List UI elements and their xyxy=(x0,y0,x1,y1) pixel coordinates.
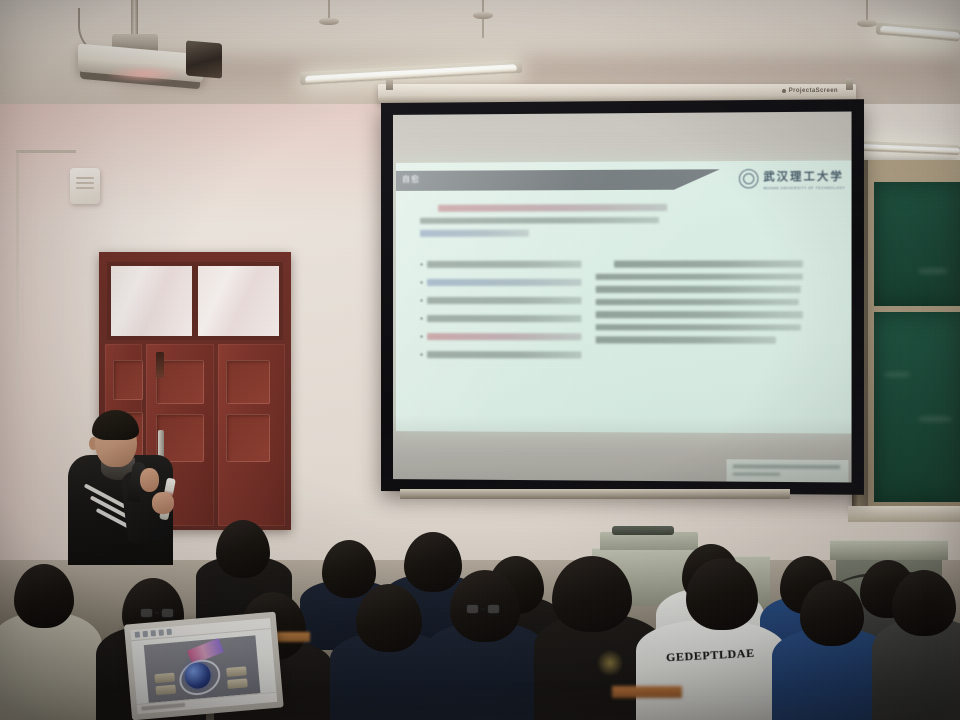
screen-bracket xyxy=(846,78,853,90)
chalk-tray xyxy=(848,506,960,522)
door-transom xyxy=(107,262,283,340)
toolbar-icon[interactable] xyxy=(135,631,141,637)
transom-glass-pane xyxy=(111,266,192,336)
list-item xyxy=(420,261,581,274)
bullet-icon xyxy=(420,281,423,284)
university-name-cn: 武汉理工大学 xyxy=(763,171,844,184)
screen-bracket xyxy=(386,78,393,90)
toolbar-icon[interactable] xyxy=(151,630,157,636)
door-lock[interactable] xyxy=(156,352,164,378)
light-ceiling-cap xyxy=(319,18,339,25)
light-hanger-rod xyxy=(482,0,484,38)
toolbar-icon[interactable] xyxy=(143,631,149,637)
university-seal-icon xyxy=(739,169,759,188)
screen-upper-haze xyxy=(393,112,852,165)
slide-header-band xyxy=(396,169,720,191)
slide-right-paragraph xyxy=(596,260,807,349)
projector-lens xyxy=(186,40,222,78)
chair-back xyxy=(612,686,682,698)
university-name-en: WUHAN UNIVERSITY OF TECHNOLOGY xyxy=(763,186,845,190)
bullet-icon xyxy=(420,353,423,356)
screen-brand-label: ProjectaScreen xyxy=(782,88,838,94)
eyeglasses xyxy=(140,608,174,618)
model-viewport[interactable] xyxy=(144,635,261,703)
wall-conduit-horizontal xyxy=(16,150,76,153)
list-item xyxy=(420,351,581,364)
brand-dot-icon xyxy=(782,89,786,93)
chalkboard-panel-top xyxy=(874,182,960,306)
bullet-icon xyxy=(420,263,423,266)
bullet-icon xyxy=(420,335,423,338)
side-counter-top xyxy=(830,540,948,560)
slide-bullet-list xyxy=(420,261,581,370)
laptop-screen[interactable] xyxy=(130,618,277,714)
toolbar-icon[interactable] xyxy=(158,629,164,635)
university-logo: 武汉理工大学 WUHAN UNIVERSITY OF TECHNOLOGY xyxy=(739,167,846,191)
slide-header-title: 自愈 xyxy=(402,174,420,185)
toolbar-icon[interactable] xyxy=(166,629,172,635)
list-item xyxy=(420,333,581,346)
wall-speaker-box xyxy=(70,168,100,204)
slide-intro-paragraph xyxy=(420,204,673,243)
presenter-hand-right xyxy=(152,492,174,514)
projector-lamp-glow xyxy=(105,66,183,82)
document-camera-arm xyxy=(612,526,674,535)
wall-conduit-vertical xyxy=(16,150,19,390)
door-leaf-right[interactable] xyxy=(218,344,285,526)
bullet-icon xyxy=(420,317,423,320)
list-item xyxy=(420,297,581,310)
chalkboard-panel-bottom xyxy=(874,312,960,502)
light-ceiling-cap xyxy=(473,12,493,19)
light-ceiling-cap xyxy=(857,20,877,27)
transom-glass-pane xyxy=(198,266,279,336)
screen-lower-haze xyxy=(393,415,852,482)
eyeglasses xyxy=(466,604,500,614)
bullet-icon xyxy=(420,299,423,302)
list-item xyxy=(420,315,581,328)
projector-mount-pole xyxy=(131,0,138,36)
presenter-hand-left xyxy=(140,468,159,492)
list-item xyxy=(420,279,581,292)
wall-warm-light-cast xyxy=(0,104,400,224)
classroom-photo-scene: ProjectaScreen 自愈 武汉理工大学 WUHAN UNIVERSIT… xyxy=(0,0,960,720)
presentation-slide: 自愈 武汉理工大学 WUHAN UNIVERSITY OF TECHNOLOGY xyxy=(396,160,852,433)
student-laptop[interactable] xyxy=(124,612,284,720)
screen-bottom-bar xyxy=(400,489,790,499)
screen-brand-text: ProjectaScreen xyxy=(789,88,838,94)
screen-surface: 自愈 武汉理工大学 WUHAN UNIVERSITY OF TECHNOLOGY xyxy=(393,112,852,483)
projection-screen[interactable]: 自愈 武汉理工大学 WUHAN UNIVERSITY OF TECHNOLOGY xyxy=(381,99,864,495)
